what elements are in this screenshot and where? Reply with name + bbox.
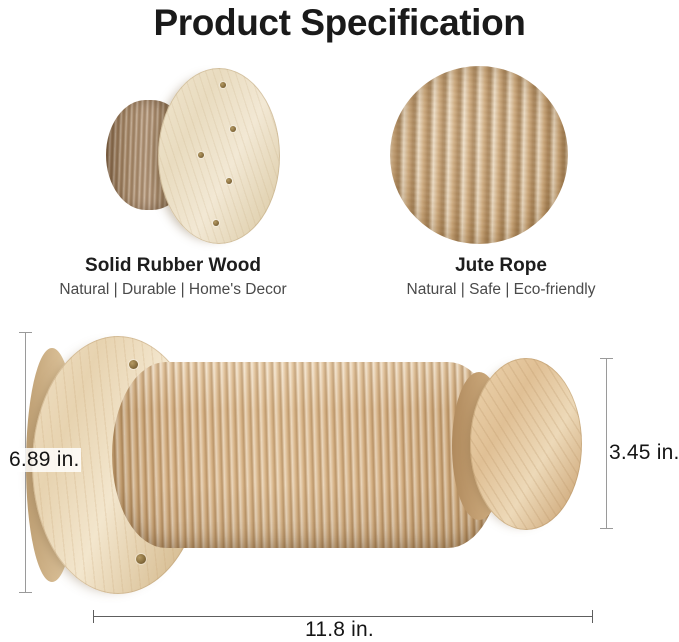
screw-hole-icon [198, 152, 204, 158]
dimension-label-height: 6.89 in. [8, 448, 81, 472]
screw-hole-icon [213, 220, 219, 226]
feature-title-jute-rope: Jute Rope [336, 254, 666, 278]
page-title: Product Specification [0, 0, 679, 46]
dimension-cap-depth-top [600, 358, 613, 359]
jute-rope-caption: Jute Rope Natural | Safe | Eco-friendly [336, 254, 666, 301]
dimension-cap-height-bottom [19, 592, 32, 593]
feature-tags-solid-rubber-wood: Natural | Durable | Home's Decor [8, 279, 338, 301]
screw-hole-icon [220, 82, 226, 88]
jute-rope-image [336, 62, 666, 257]
wood-end-cap [470, 358, 582, 530]
screw-icon [136, 554, 146, 564]
dimension-cap-depth-bottom [600, 528, 613, 529]
product-photo-with-dimensions [0, 318, 679, 608]
wood-mounting-disc [158, 68, 280, 244]
feature-card-solid-rubber-wood: Solid Rubber Wood Natural | Durable | Ho… [8, 62, 338, 312]
screw-icon [129, 360, 138, 369]
feature-tags-jute-rope: Natural | Safe | Eco-friendly [336, 279, 666, 301]
feature-title-solid-rubber-wood: Solid Rubber Wood [8, 254, 338, 278]
solid-rubber-wood-image [8, 62, 338, 257]
dimension-cap-height-top [19, 332, 32, 333]
dimension-line-depth [606, 358, 607, 528]
dimension-line-width [93, 616, 592, 617]
jute-rope-wrapped-barrel [112, 362, 502, 548]
screw-hole-icon [230, 126, 236, 132]
jute-rope-closeup-circle [390, 66, 568, 244]
solid-rubber-wood-caption: Solid Rubber Wood Natural | Durable | Ho… [8, 254, 338, 301]
feature-card-jute-rope: Jute Rope Natural | Safe | Eco-friendly [336, 62, 666, 312]
dimension-label-depth: 3.45 in. [609, 441, 679, 465]
dimension-label-width: 11.8 in. [0, 618, 679, 642]
screw-hole-icon [226, 178, 232, 184]
